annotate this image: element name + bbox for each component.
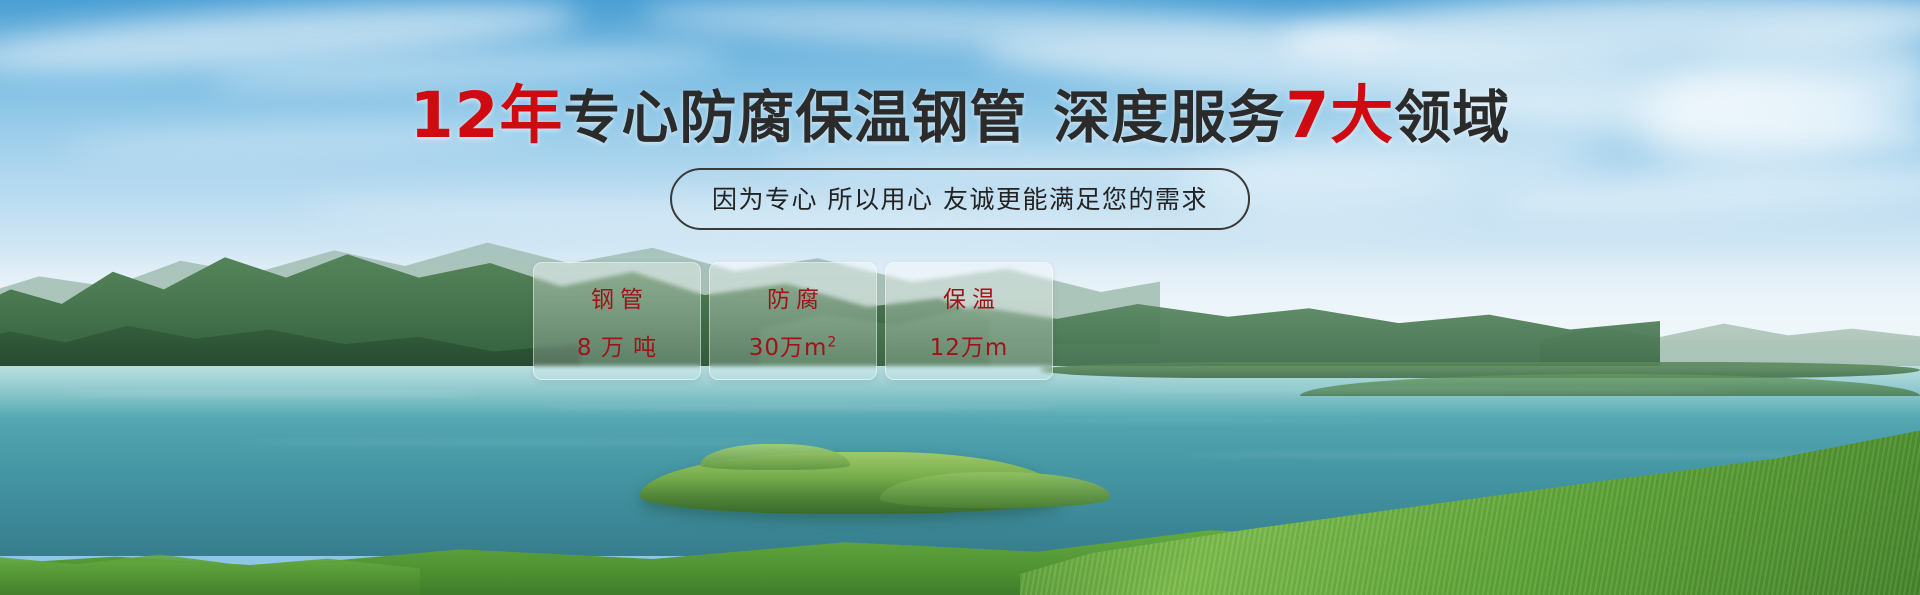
hero-banner: 12年专心防腐保温钢管深度服务7大领域 因为专心 所以用心 友诚更能满足您的需求…	[0, 0, 1920, 595]
stat-value: 30万m2	[749, 328, 838, 362]
headline-years: 12年	[410, 79, 564, 152]
stat-value-number: 12万m	[930, 335, 1009, 361]
stat-card-insulation: 保温 12万m	[885, 262, 1053, 380]
stat-value-number: 8 万 吨	[577, 335, 657, 361]
headline-main-text: 专心防腐保温钢管	[563, 85, 1027, 151]
stat-value-number: 30万m	[749, 335, 828, 361]
headline-service-text: 深度服务	[1053, 85, 1285, 151]
headline-seven-fields: 7大	[1285, 79, 1394, 152]
banner-headline: 12年专心防腐保温钢管深度服务7大领域	[0, 84, 1920, 147]
banner-subtitle-text: 因为专心 所以用心 友诚更能满足您的需求	[712, 185, 1208, 214]
stat-card-steel-pipe: 钢管 8 万 吨	[533, 262, 701, 380]
headline-domains-text: 领域	[1394, 85, 1510, 151]
banner-subtitle-pill: 因为专心 所以用心 友诚更能满足您的需求	[670, 168, 1250, 230]
stat-label: 保温	[937, 280, 1001, 314]
stat-value-exponent: 2	[827, 334, 837, 350]
stat-label: 防腐	[761, 280, 825, 314]
stat-label: 钢管	[585, 280, 649, 314]
stats-group: 钢管 8 万 吨 防腐 30万m2 保温 12万m	[533, 262, 1053, 380]
stat-value: 12万m	[930, 328, 1009, 362]
stat-value: 8 万 吨	[577, 328, 657, 362]
banner-content: 12年专心防腐保温钢管深度服务7大领域 因为专心 所以用心 友诚更能满足您的需求…	[0, 0, 1920, 595]
stat-card-anticorrosion: 防腐 30万m2	[709, 262, 877, 380]
